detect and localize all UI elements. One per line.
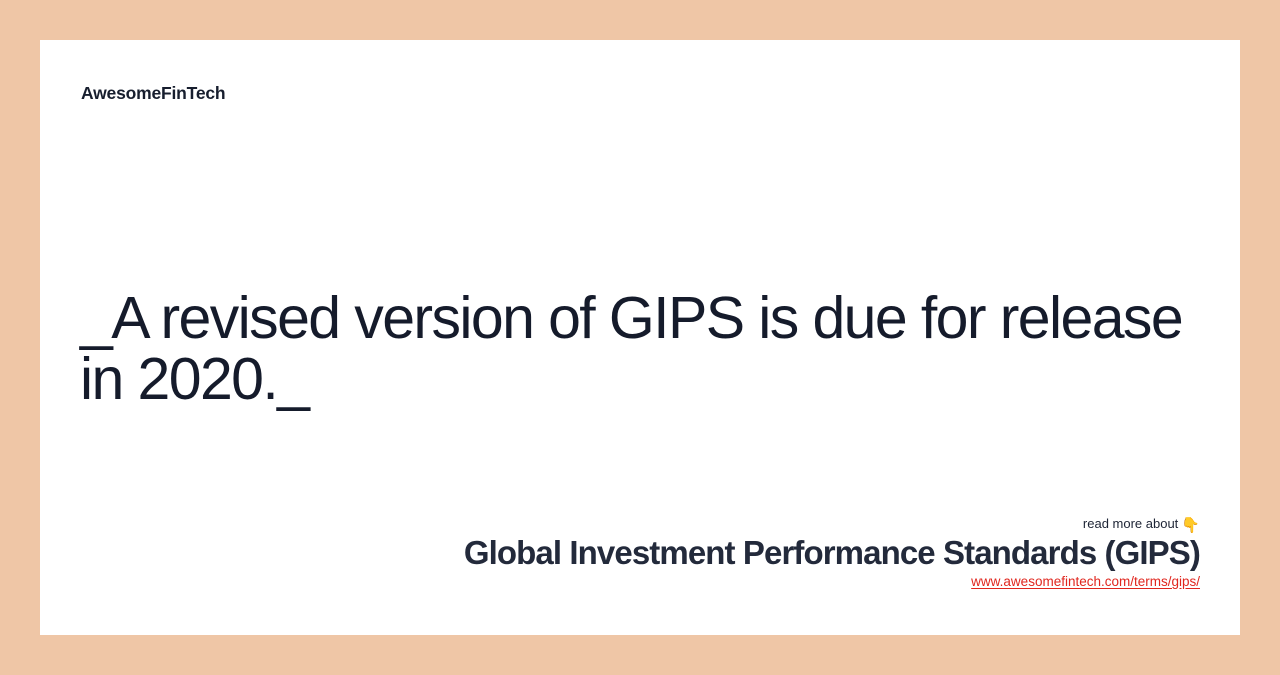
point-down-icon: 👇 [1181,518,1200,533]
footer-block: read more about👇 Global Investment Perfo… [464,516,1200,591]
read-more-label: read more about👇 [464,516,1200,533]
page-title: _A revised version of GIPS is due for re… [80,288,1195,412]
source-url-link[interactable]: www.awesomefintech.com/terms/gips/ [971,574,1200,591]
page-background: AwesomeFinTech _A revised version of GIP… [0,0,1280,675]
brand-logo[interactable]: AwesomeFinTech [81,83,225,104]
read-more-text: read more about [1083,516,1178,531]
content-card: AwesomeFinTech _A revised version of GIP… [40,40,1240,635]
footer-heading: Global Investment Performance Standards … [464,535,1200,572]
